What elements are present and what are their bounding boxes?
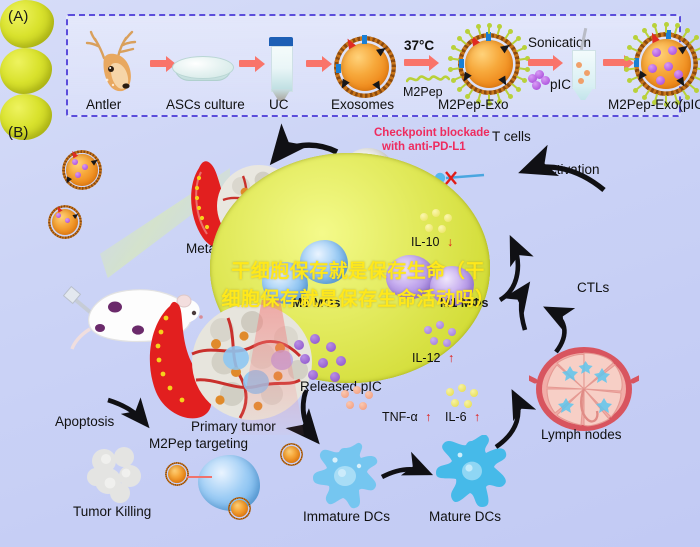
cytokine-tnf-alpha-name: TNF-α — [382, 410, 418, 424]
deer-icon — [84, 30, 148, 96]
m2pep-peptide-icon — [406, 72, 450, 84]
label-tumor-killing: Tumor Killing — [73, 505, 151, 519]
targeting-exosome-2-icon — [280, 443, 303, 466]
panel-a-label-uc: UC — [269, 98, 289, 112]
label-cytokine-il-12: IL-12 ↑ — [412, 352, 454, 365]
panel-a-content: Antler ASCs culture UC Exosomes 37°C — [66, 14, 677, 113]
label-activation: Activation — [541, 163, 600, 177]
panel-b-letter: (B) — [8, 124, 29, 141]
arrow-ascs-to-uc — [239, 60, 256, 67]
panel-a-label-m2pep: M2Pep — [403, 86, 443, 99]
primary-tumor-icon — [140, 300, 340, 435]
petri-dish-icon — [172, 56, 232, 86]
m2pep-exosome-icon — [458, 33, 520, 95]
label-checkpoint-line2: with anti-PD-L1 — [382, 142, 466, 154]
panel-a-label-m2pepexo: M2Pep-Exo — [438, 98, 509, 112]
sonication-tube-icon — [570, 36, 596, 102]
label-cytokine-tnf-alpha: TNF-α ↑ — [382, 411, 431, 424]
panel-a-label-final: M2Pep-Exo(pIC) — [608, 98, 700, 112]
label-cytokine-il-10: IL-10 ↓ — [411, 236, 453, 249]
exosome-icon — [334, 36, 396, 98]
mature-dc-icon — [430, 435, 514, 511]
targeting-link — [186, 470, 216, 484]
arrow-m2pepexo-to-sonication — [528, 59, 554, 66]
injected-exosome-1-icon — [62, 150, 102, 190]
lymph-node-icon — [529, 345, 639, 437]
watermark-line-1: 干细胞保存就是保存生命（干 — [188, 258, 528, 286]
panel-a-letter: (A) — [8, 8, 29, 25]
label-mature-dcs: Mature DCs — [429, 510, 501, 524]
arrow-uc-to-exosomes — [306, 60, 323, 67]
cytokine-il-12-name: IL-12 — [412, 351, 441, 365]
injected-exosome-2-icon — [48, 205, 82, 239]
targeting-exosome-3-icon — [228, 497, 251, 520]
label-apoptosis: Apoptosis — [55, 415, 114, 429]
cytokine-il-6-arrow: ↑ — [474, 410, 480, 424]
label-checkpoint-line1: Checkpoint blockade — [374, 128, 490, 140]
centrifuge-tube-icon — [269, 37, 293, 99]
label-t-cells: T cells — [492, 130, 531, 144]
cytokine-il-6-name: IL-6 — [445, 410, 467, 424]
cytokine-il-10-name: IL-10 — [411, 235, 440, 249]
panel-a-label-ascs: ASCs culture — [166, 98, 245, 112]
label-cytokine-il-6: IL-6 ↑ — [445, 411, 480, 424]
immature-dc-icon — [305, 440, 385, 512]
label-immature-dcs: Immature DCs — [303, 510, 390, 524]
panel-a-label-pic: pIC — [550, 78, 571, 92]
label-m2pep-targeting: M2Pep targeting — [149, 437, 248, 451]
cytokine-il-12-arrow: ↑ — [448, 351, 454, 365]
cytokine-il-10-arrow: ↓ — [447, 235, 453, 249]
arrow-antler-to-ascs — [150, 60, 167, 67]
cytokine-tnf-alpha-arrow: ↑ — [425, 410, 431, 424]
m2pep-exosome-pic-icon — [634, 32, 698, 96]
arrow-exosomes-to-m2pepexo — [404, 59, 430, 66]
ctl-cell-1-icon — [0, 48, 52, 94]
apoptotic-cell-icon — [82, 443, 150, 505]
figure-root: (A) Antler — [0, 0, 700, 547]
panel-a-label-exosomes: Exosomes — [331, 98, 394, 112]
watermark-overlay: 干细胞保存就是保存生命（干 细胞保存就是保存生命活动吗） — [188, 258, 528, 313]
label-primary-tumor: Primary tumor — [191, 420, 276, 434]
panel-a-label-temperature: 37°C — [404, 39, 434, 53]
label-lymph-nodes: Lymph nodes — [541, 428, 622, 442]
watermark-line-2: 细胞保存就是保存生命活动吗） — [188, 286, 528, 314]
label-ctls: CTLs — [577, 281, 609, 295]
panel-a-label-antler: Antler — [86, 98, 121, 112]
arrow-sonication-to-final — [603, 59, 625, 66]
